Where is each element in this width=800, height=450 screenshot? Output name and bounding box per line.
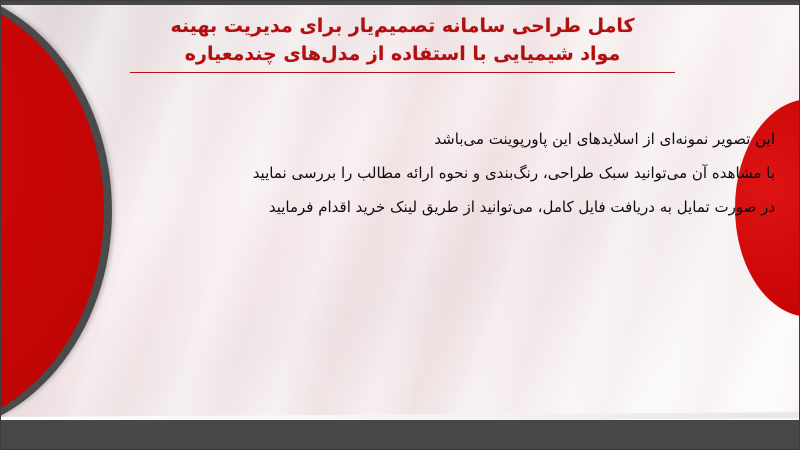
presentation-slide: کامل طراحی سامانه تصمیم‌یار برای مدیریت … bbox=[0, 0, 800, 450]
body-line-1: این تصویر نمونه‌ای از اسلایدهای این پاور… bbox=[110, 122, 775, 156]
slide-bottom-frame-bar bbox=[0, 420, 800, 450]
slide-content-panel: کامل طراحی سامانه تصمیم‌یار برای مدیریت … bbox=[0, 4, 800, 422]
slide-title: کامل طراحی سامانه تصمیم‌یار برای مدیریت … bbox=[120, 12, 685, 73]
title-underline-rule bbox=[130, 72, 675, 73]
slide-title-line-2: مواد شیمیایی با استفاده از مدل‌های چندمع… bbox=[120, 40, 685, 68]
slide-top-frame-bar bbox=[0, 0, 800, 5]
slide-title-line-1: کامل طراحی سامانه تصمیم‌یار برای مدیریت … bbox=[120, 12, 685, 40]
body-line-3: در صورت تمایل به دریافت فایل کامل، می‌تو… bbox=[110, 190, 775, 224]
body-line-2: با مشاهده آن می‌توانید سبک طراحی، رنگ‌بن… bbox=[110, 156, 775, 190]
left-red-ellipse-decoration bbox=[0, 4, 104, 422]
slide-body-text: این تصویر نمونه‌ای از اسلایدهای این پاور… bbox=[110, 122, 775, 224]
